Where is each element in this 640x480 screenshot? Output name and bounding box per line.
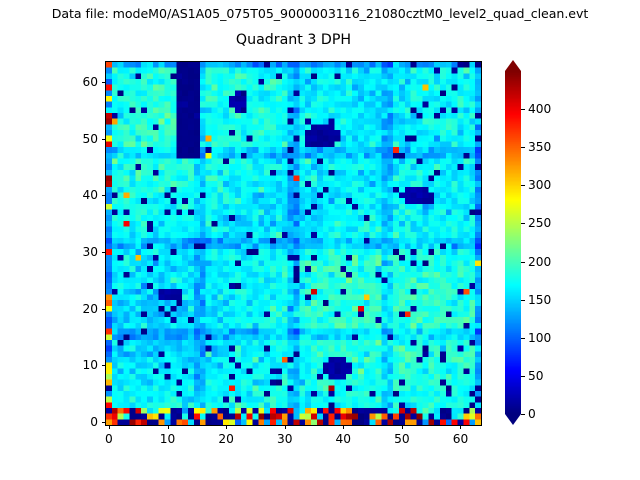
- y-tick-mark: [102, 195, 106, 196]
- x-tick-mark: [285, 425, 286, 429]
- axis-spine-left: [105, 61, 106, 426]
- colorbar-tick-mark: [521, 376, 525, 377]
- y-tick-label: 10: [64, 358, 98, 372]
- x-tick-label: 60: [453, 432, 469, 446]
- data-file-suptitle: Data file: modeM0/AS1A05_075T05_90000031…: [0, 6, 640, 21]
- colorbar-tick-mark: [521, 223, 525, 224]
- x-tick-label: 30: [277, 432, 293, 446]
- y-tick-label: 50: [64, 132, 98, 146]
- colorbar-tick-mark: [521, 414, 525, 415]
- y-tick-mark: [102, 139, 106, 140]
- y-tick-label: 40: [64, 188, 98, 202]
- colorbar-tick-mark: [521, 185, 525, 186]
- axis-spine-right: [481, 61, 482, 426]
- y-tick-mark: [102, 309, 106, 310]
- y-tick-label: 0: [64, 415, 98, 429]
- colorbar[interactable]: [505, 60, 521, 425]
- x-tick-mark: [460, 425, 461, 429]
- heatmap-image[interactable]: [106, 62, 481, 425]
- colorbar-tick-label: 400: [528, 102, 551, 116]
- x-tick-label: 40: [336, 432, 352, 446]
- colorbar-tick-label: 100: [528, 331, 551, 345]
- colorbar-image: [505, 71, 521, 414]
- x-tick-mark: [226, 425, 227, 429]
- x-tick-label: 0: [105, 432, 113, 446]
- colorbar-tick-mark: [521, 338, 525, 339]
- colorbar-tick-label: 0: [528, 407, 536, 421]
- colorbar-tick-mark: [521, 300, 525, 301]
- axis-spine-top: [105, 61, 482, 62]
- colorbar-tick-label: 150: [528, 293, 551, 307]
- y-tick-mark: [102, 365, 106, 366]
- page-title: Quadrant 3 DPH: [106, 32, 481, 48]
- y-tick-label: 60: [64, 75, 98, 89]
- colorbar-tick-mark: [521, 262, 525, 263]
- x-tick-mark: [343, 425, 344, 429]
- x-tick-label: 20: [218, 432, 234, 446]
- colorbar-gradient[interactable]: [505, 71, 521, 414]
- colorbar-tick-label: 350: [528, 140, 551, 154]
- colorbar-tick-label: 300: [528, 178, 551, 192]
- x-tick-label: 50: [394, 432, 410, 446]
- x-tick-mark: [402, 425, 403, 429]
- colorbar-tick-mark: [521, 147, 525, 148]
- colorbar-tick-label: 200: [528, 255, 551, 269]
- x-tick-mark: [109, 425, 110, 429]
- triangle-down-icon: [505, 414, 521, 425]
- y-tick-label: 30: [64, 245, 98, 259]
- y-tick-mark: [102, 422, 106, 423]
- colorbar-tick-mark: [521, 109, 525, 110]
- triangle-up-icon: [505, 60, 521, 71]
- colorbar-tick-label: 50: [528, 369, 544, 383]
- y-tick-label: 20: [64, 302, 98, 316]
- matplotlib-figure: Data file: modeM0/AS1A05_075T05_90000031…: [0, 0, 640, 480]
- axis-spine-bottom: [105, 425, 482, 426]
- y-tick-mark: [102, 252, 106, 253]
- heatmap-plot-area[interactable]: [106, 62, 481, 425]
- x-tick-mark: [168, 425, 169, 429]
- x-tick-label: 10: [160, 432, 176, 446]
- y-tick-mark: [102, 82, 106, 83]
- colorbar-tick-label: 250: [528, 216, 551, 230]
